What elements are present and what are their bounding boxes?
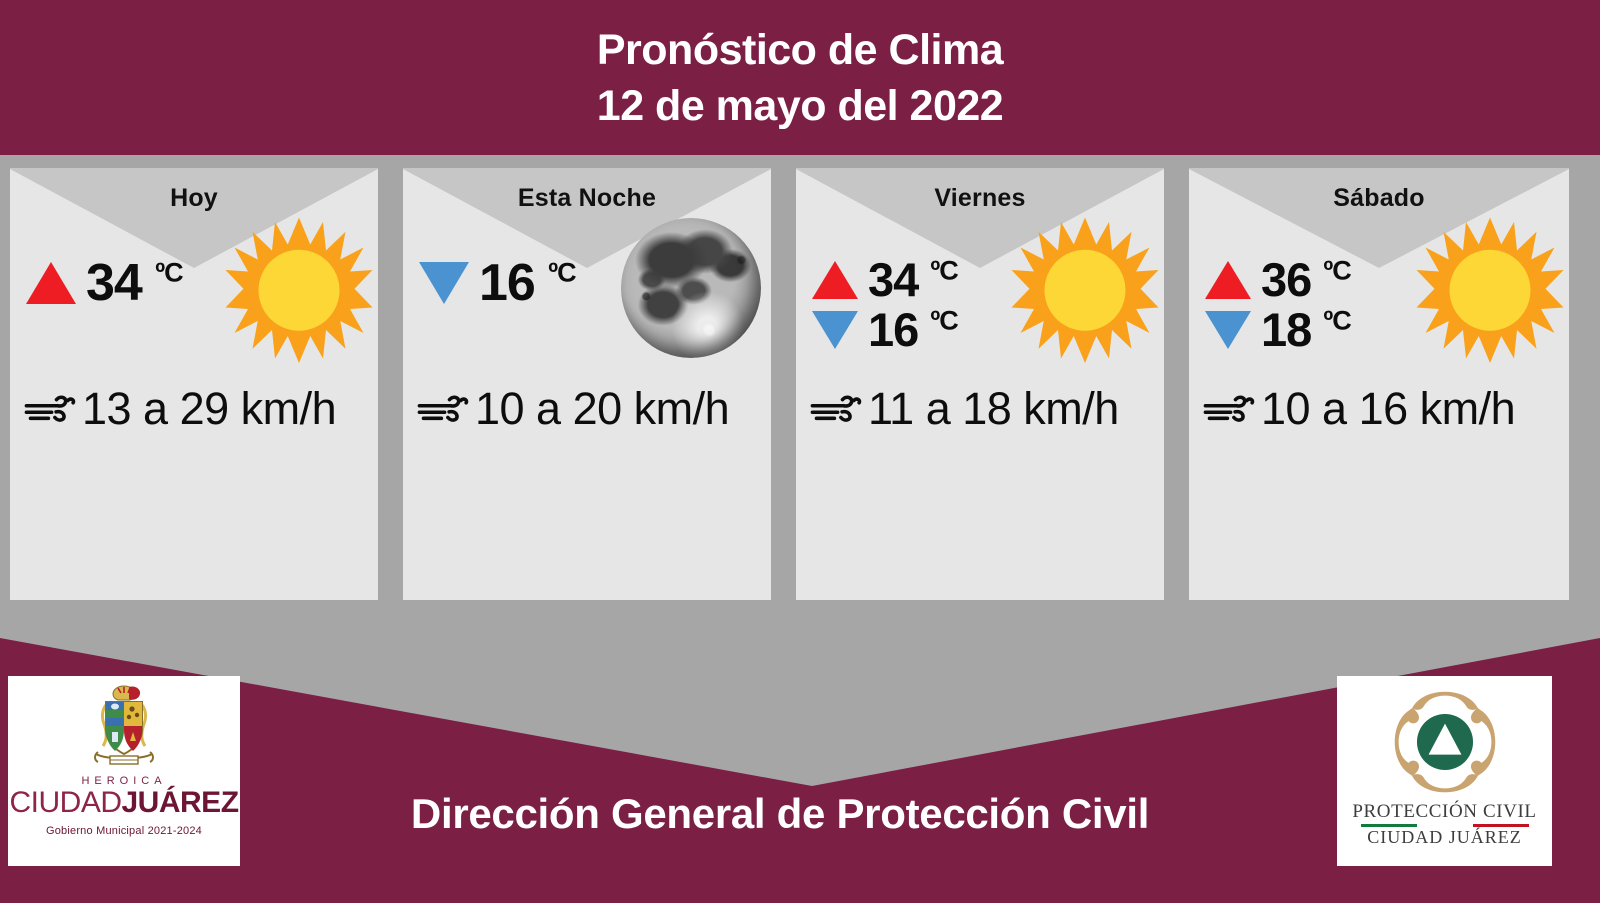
temperature-row-low: 18 ºC xyxy=(1205,306,1351,354)
temperature-row-low: 16 ºC xyxy=(419,256,576,310)
logo-proteccion-civil-city: CIUDAD JUÁREZ xyxy=(1367,828,1522,847)
page-title-line-1: Pronóstico de Clima xyxy=(597,22,1003,78)
triangle-up-icon xyxy=(1205,261,1251,299)
wind-icon xyxy=(417,389,469,429)
triangle-down-icon xyxy=(419,262,469,304)
temperature-row-high: 34 ºC xyxy=(812,256,958,304)
footer-title: Dirección General de Protección Civil xyxy=(40,790,1520,838)
forecast-card-saturday[interactable]: Sábado 36 ºC 18 ºC xyxy=(1189,168,1569,600)
wind-icon xyxy=(810,389,862,429)
wind-icon xyxy=(24,389,76,429)
temperature-high-value: 34 ºC xyxy=(86,256,183,310)
header-banner: Pronóstico de Clima 12 de mayo del 2022 xyxy=(0,0,1600,155)
card-day-label: Hoy xyxy=(10,184,378,213)
forecast-card-today[interactable]: Hoy 34 ºC xyxy=(10,168,378,600)
temperature-low-value: 16 ºC xyxy=(868,306,958,354)
weather-forecast-graphic: Pronóstico de Clima 12 de mayo del 2022 … xyxy=(0,0,1600,903)
sun-icon xyxy=(1010,216,1160,366)
card-day-label: Esta Noche xyxy=(403,184,771,213)
card-wind-row: 13 a 29 km/h xyxy=(24,386,336,432)
triangle-up-icon xyxy=(812,261,858,299)
temperature-low-value: 18 ºC xyxy=(1261,306,1351,354)
triangle-down-icon xyxy=(812,311,858,349)
sun-icon xyxy=(1415,216,1565,366)
temperature-row-high: 36 ºC xyxy=(1205,256,1351,304)
temperature-high-value: 36 ºC xyxy=(1261,256,1351,304)
temperature-row-low: 16 ºC xyxy=(812,306,958,354)
triangle-up-icon xyxy=(26,262,76,304)
wind-icon xyxy=(1203,389,1255,429)
forecast-card-friday[interactable]: Viernes 34 ºC 16 ºC xyxy=(796,168,1164,600)
page-title-line-2: 12 de mayo del 2022 xyxy=(597,78,1003,134)
card-wind-row: 11 a 18 km/h xyxy=(810,386,1119,432)
full-moon-icon xyxy=(621,218,761,358)
proteccion-civil-emblem-icon xyxy=(1387,684,1503,800)
card-wind-row: 10 a 16 km/h xyxy=(1203,386,1515,432)
forecast-cards-row: Hoy 34 ºC xyxy=(0,168,1600,600)
sun-icon xyxy=(224,216,374,366)
card-wind-row: 10 a 20 km/h xyxy=(417,386,729,432)
card-wind-value: 10 a 16 km/h xyxy=(1261,386,1515,432)
temperature-low-value: 16 ºC xyxy=(479,256,576,310)
card-day-label: Viernes xyxy=(796,184,1164,213)
temperature-row-high: 34 ºC xyxy=(26,256,183,310)
logo-government-period: Gobierno Municipal 2021-2024 xyxy=(46,825,202,837)
logo-city-name: CIUDADJUÁREZ xyxy=(9,787,238,819)
temperature-high-value: 34 ºC xyxy=(868,256,958,304)
proteccion-civil-logo: PROTECCIÓN CIVIL CIUDAD JUÁREZ xyxy=(1337,676,1552,866)
card-wind-value: 10 a 20 km/h xyxy=(475,386,729,432)
card-wind-value: 11 a 18 km/h xyxy=(868,386,1119,432)
card-day-label: Sábado xyxy=(1189,184,1569,213)
logo-proteccion-civil-label: PROTECCIÓN CIVIL xyxy=(1352,802,1536,822)
card-wind-value: 13 a 29 km/h xyxy=(82,386,336,432)
forecast-card-tonight[interactable]: Esta Noche 16 ºC xyxy=(403,168,771,600)
ciudad-juarez-logo: HEROICA CIUDADJUÁREZ Gobierno Municipal … xyxy=(8,676,240,866)
triangle-down-icon xyxy=(1205,311,1251,349)
city-coat-of-arms-icon xyxy=(88,682,160,774)
